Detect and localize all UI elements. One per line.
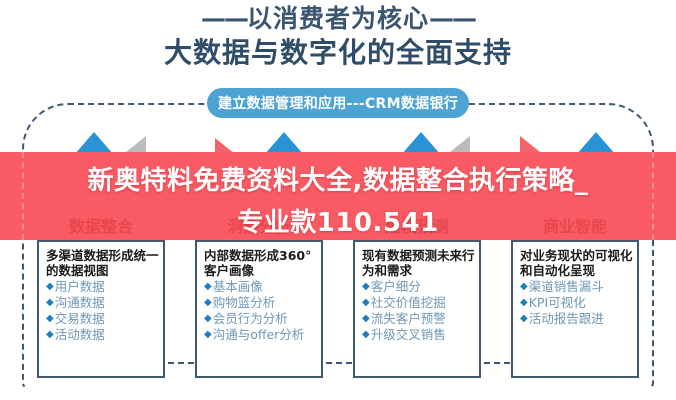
diamond-bullet-icon: ◆ — [362, 327, 370, 343]
list-item-label: 社交价值挖掘 — [371, 295, 446, 311]
diamond-bullet-icon: ◆ — [46, 311, 54, 327]
list-item[interactable]: ◆流失客户预警 — [362, 311, 475, 327]
title-line-1-text: 以消费者为核心 — [247, 4, 429, 33]
list-item-label: 活动数据 — [55, 327, 105, 343]
card-insight-analysis[interactable]: 内部数据形成360°客户画像 ◆基本画像 ◆购物篮分析 ◆会员行为分析 ◆沟通与… — [195, 240, 323, 378]
list-item-label: 用户数据 — [55, 279, 105, 295]
card-title-1: 内部数据形成360°客户画像 — [204, 248, 317, 278]
card-slot-2: 现有数据预测未来行为和需求 ◆客户细分 ◆社交价值挖掘 ◆流失客户预警 ◆升级交… — [338, 240, 496, 380]
heading-block: ——以消费者为核心—— 大数据与数字化的全面支持 — [0, 4, 676, 70]
diamond-bullet-icon: ◆ — [520, 295, 528, 311]
card-data-integration[interactable]: 多渠道数据形成统一的数据视图 ◆用户数据 ◆沟通数据 ◆交易数据 ◆活动数据 — [37, 240, 165, 378]
crm-badge[interactable]: 建立数据管理和应用---CRM数据银行 — [207, 88, 469, 118]
diamond-bullet-icon: ◆ — [362, 279, 370, 295]
list-item[interactable]: ◆客户细分 — [362, 279, 475, 295]
card-slot-0: 多渠道数据形成统一的数据视图 ◆用户数据 ◆沟通数据 ◆交易数据 ◆活动数据 — [22, 240, 180, 380]
diamond-bullet-icon: ◆ — [520, 311, 528, 327]
list-item[interactable]: ◆活动报告跟进 — [520, 311, 633, 327]
diamond-bullet-icon: ◆ — [46, 279, 54, 295]
diamond-bullet-icon: ◆ — [46, 327, 54, 343]
card-slot-3: 对业务现状的可视化和自动化呈现 ◆渠道销售漏斗 ◆KPI可视化 ◆活动报告跟进 — [496, 240, 654, 380]
card-list-2: ◆客户细分 ◆社交价值挖掘 ◆流失客户预警 ◆升级交叉销售 — [362, 279, 475, 343]
overlay-watermark: 新奥特料免费资料大全,数据整合执行策略_ 专业款110.541 — [0, 160, 676, 244]
infographic-canvas: ——以消费者为核心—— 大数据与数字化的全面支持 建立数据管理和应用---CRM… — [0, 0, 676, 400]
list-item-label: 沟通数据 — [55, 295, 105, 311]
list-item[interactable]: ◆活动数据 — [46, 327, 159, 343]
card-business-intelligence[interactable]: 对业务现状的可视化和自动化呈现 ◆渠道销售漏斗 ◆KPI可视化 ◆活动报告跟进 — [511, 240, 639, 378]
list-item-label: 交易数据 — [55, 311, 105, 327]
diamond-bullet-icon: ◆ — [362, 295, 370, 311]
diamond-bullet-icon: ◆ — [520, 279, 528, 295]
list-item-label: 沟通与offer分析 — [213, 327, 305, 343]
dash-left: —— — [201, 4, 247, 33]
diamond-bullet-icon: ◆ — [362, 311, 370, 327]
diamond-bullet-icon: ◆ — [204, 327, 212, 343]
list-item[interactable]: ◆社交价值挖掘 — [362, 295, 475, 311]
diamond-bullet-icon: ◆ — [204, 295, 212, 311]
card-title-3: 对业务现状的可视化和自动化呈现 — [520, 248, 633, 278]
diamond-bullet-icon: ◆ — [204, 279, 212, 295]
title-line-2: 大数据与数字化的全面支持 — [0, 36, 676, 70]
list-item-label: 基本画像 — [213, 279, 263, 295]
card-list-0: ◆用户数据 ◆沟通数据 ◆交易数据 ◆活动数据 — [46, 279, 159, 343]
diamond-bullet-icon: ◆ — [46, 295, 54, 311]
list-item-label: 活动报告跟进 — [529, 311, 604, 327]
overlay-line-2: 专业款110.541 — [0, 202, 676, 244]
list-item-label: 升级交叉销售 — [371, 327, 446, 343]
list-item-label: 流失客户预警 — [371, 311, 446, 327]
list-item[interactable]: ◆KPI可视化 — [520, 295, 633, 311]
card-list-3: ◆渠道销售漏斗 ◆KPI可视化 ◆活动报告跟进 — [520, 279, 633, 327]
crm-badge-label: 建立数据管理和应用---CRM数据银行 — [218, 93, 458, 113]
list-item[interactable]: ◆交易数据 — [46, 311, 159, 327]
overlay-line-1: 新奥特料免费资料大全,数据整合执行策略_ — [88, 166, 589, 196]
list-item[interactable]: ◆沟通数据 — [46, 295, 159, 311]
card-title-0: 多渠道数据形成统一的数据视图 — [46, 248, 159, 278]
list-item[interactable]: ◆沟通与offer分析 — [204, 327, 317, 343]
list-item[interactable]: ◆升级交叉销售 — [362, 327, 475, 343]
list-item[interactable]: ◆会员行为分析 — [204, 311, 317, 327]
list-item[interactable]: ◆渠道销售漏斗 — [520, 279, 633, 295]
list-item-label: 购物篮分析 — [213, 295, 276, 311]
list-item[interactable]: ◆购物篮分析 — [204, 295, 317, 311]
list-item-label: 客户细分 — [371, 279, 421, 295]
diamond-bullet-icon: ◆ — [204, 311, 212, 327]
list-item-label: KPI可视化 — [529, 295, 586, 311]
card-slot-1: 内部数据形成360°客户画像 ◆基本画像 ◆购物篮分析 ◆会员行为分析 ◆沟通与… — [180, 240, 338, 380]
card-title-2: 现有数据预测未来行为和需求 — [362, 248, 475, 278]
list-item-label: 渠道销售漏斗 — [529, 279, 604, 295]
list-item[interactable]: ◆用户数据 — [46, 279, 159, 295]
title-line-1: ——以消费者为核心—— — [0, 4, 676, 34]
list-item-label: 会员行为分析 — [213, 311, 288, 327]
card-list-1: ◆基本画像 ◆购物篮分析 ◆会员行为分析 ◆沟通与offer分析 — [204, 279, 317, 343]
card-row: 多渠道数据形成统一的数据视图 ◆用户数据 ◆沟通数据 ◆交易数据 ◆活动数据 内… — [22, 240, 654, 380]
dash-right: —— — [429, 4, 475, 33]
list-item[interactable]: ◆基本画像 — [204, 279, 317, 295]
card-model-prediction[interactable]: 现有数据预测未来行为和需求 ◆客户细分 ◆社交价值挖掘 ◆流失客户预警 ◆升级交… — [353, 240, 481, 378]
